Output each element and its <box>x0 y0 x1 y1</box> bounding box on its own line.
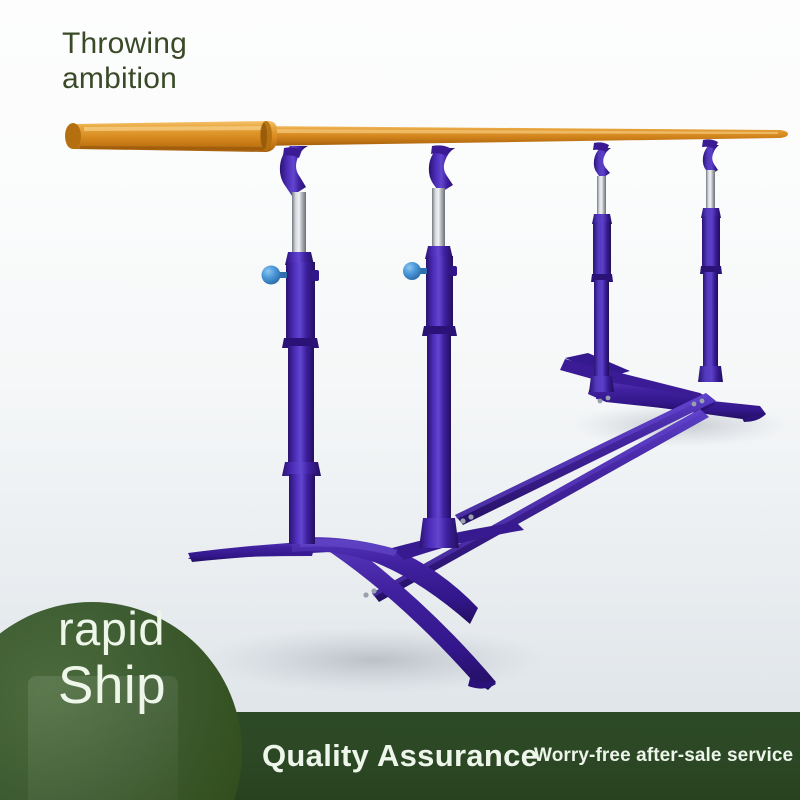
rail-upper <box>455 393 716 525</box>
adjustment-knob-1 <box>262 266 288 285</box>
post-1 <box>262 146 322 544</box>
banner-title: Quality Assurance <box>262 738 538 774</box>
badge-text: rapid Ship <box>58 604 288 714</box>
adjustment-knob-2 <box>403 262 427 280</box>
product-image-canvas: Throwing ambition Quality Assurance Worr… <box>0 0 800 800</box>
top-rail <box>65 121 788 152</box>
post-2 <box>403 148 459 548</box>
badge-line-1: rapid <box>58 604 288 654</box>
badge-line-2: Ship <box>58 658 288 714</box>
post-4 <box>698 145 723 382</box>
watermark-text: Throwing ambition <box>62 26 187 97</box>
banner-subtitle: Worry-free after-sale service <box>534 745 793 767</box>
